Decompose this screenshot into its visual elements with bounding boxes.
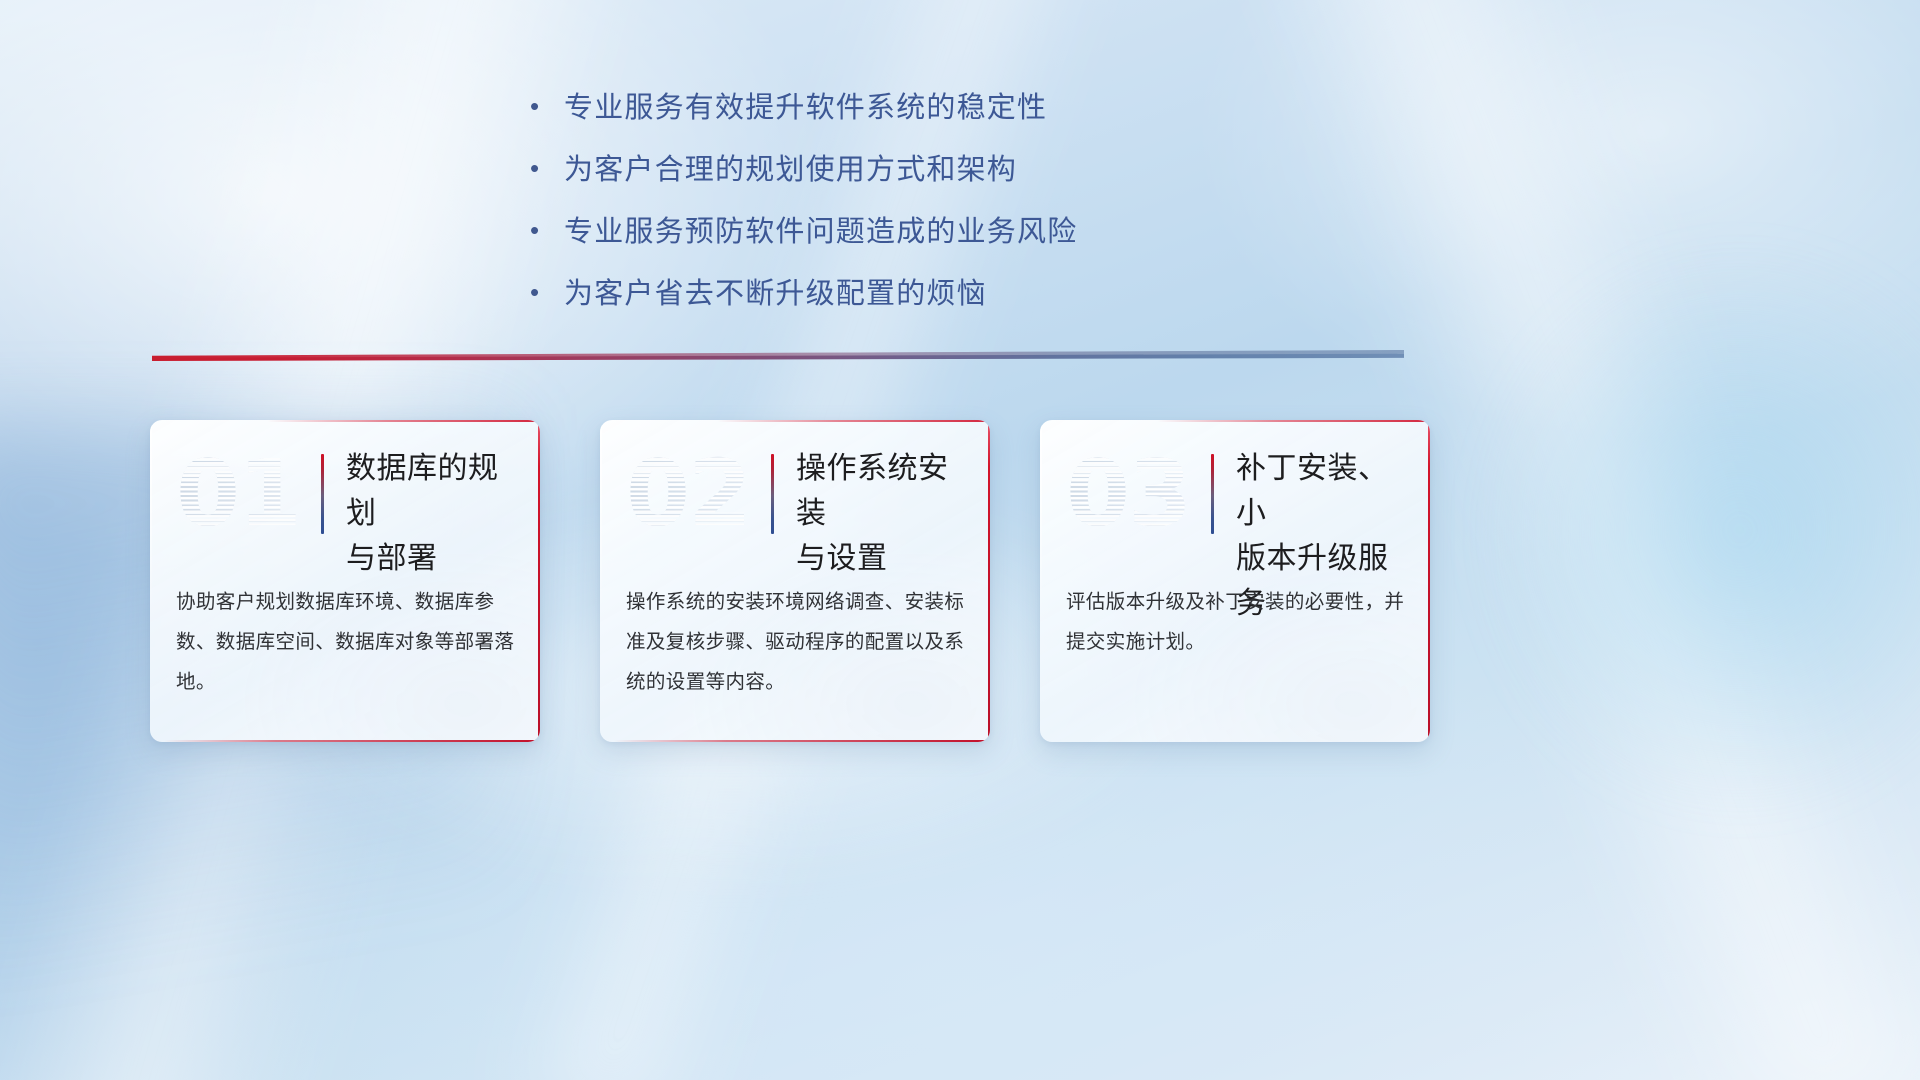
card-body-text: 操作系统的安装环境网络调查、安装标准及复核步骤、驱动程序的配置以及系统的设置等内… [626,582,966,702]
card-bottom-accent [614,740,988,742]
list-item: • 为客户省去不断升级配置的烦恼 [530,274,1390,314]
service-card-row: 01 01 数据库的规划 与部署 协助客户规划数据库环境、数据库参数、数据库空间… [150,420,1450,742]
bullet-text: 为客户合理的规划使用方式和架构 [564,150,1017,190]
card-title-line2: 与部署 [346,542,438,575]
card-bottom-accent [164,740,538,742]
card-body-text: 评估版本升级及补丁安装的必要性，并提交实施计划。 [1066,582,1406,662]
bullet-text: 专业服务预防软件问题造成的业务风险 [564,212,1077,252]
bullet-text: 专业服务有效提升软件系统的稳定性 [564,88,1047,128]
card-title-line1: 数据库的规划 [346,452,499,530]
list-item: • 为客户合理的规划使用方式和架构 [530,150,1390,190]
benefits-bullet-list: • 专业服务有效提升软件系统的稳定性 • 为客户合理的规划使用方式和架构 • 专… [530,88,1390,336]
bullet-dot-icon: • [530,210,564,250]
card-number-watermark: 03 [1058,442,1198,546]
bullet-text: 为客户省去不断升级配置的烦恼 [564,274,987,314]
card-title-line2: 与设置 [796,542,888,575]
service-card-03[interactable]: 03 03 补丁安装、小 版本升级服务 评估版本升级及补丁安装的必要性，并提交实… [1040,420,1430,742]
service-card-01[interactable]: 01 01 数据库的规划 与部署 协助客户规划数据库环境、数据库参数、数据库空间… [150,420,540,742]
card-title-divider-bar [321,454,324,534]
card-header: 02 02 操作系统安装 与设置 [600,420,990,565]
card-title: 操作系统安装 与设置 [796,446,976,581]
card-number-watermark: 02 [618,442,758,546]
list-item: • 专业服务有效提升软件系统的稳定性 [530,88,1390,128]
card-title-divider-bar [771,454,774,534]
card-title-line1: 操作系统安装 [796,452,949,530]
list-item: • 专业服务预防软件问题造成的业务风险 [530,212,1390,252]
gradient-divider [152,350,1404,361]
bullet-dot-icon: • [530,86,564,126]
card-title-divider-bar [1211,454,1214,534]
card-body-text: 协助客户规划数据库环境、数据库参数、数据库空间、数据库对象等部署落地。 [176,582,516,702]
bullet-dot-icon: • [530,148,564,188]
card-number-watermark: 01 [168,442,308,546]
light-streak-decoration [1480,250,1920,810]
card-title: 数据库的规划 与部署 [346,446,526,581]
card-header: 01 01 数据库的规划 与部署 [150,420,540,565]
service-card-02[interactable]: 02 02 操作系统安装 与设置 操作系统的安装环境网络调查、安装标准及复核步骤… [600,420,990,742]
slide-canvas: • 专业服务有效提升软件系统的稳定性 • 为客户合理的规划使用方式和架构 • 专… [0,0,1920,1080]
card-header: 03 03 补丁安装、小 版本升级服务 [1040,420,1430,565]
bullet-dot-icon: • [530,272,564,312]
card-title-line1: 补丁安装、小 [1236,452,1389,530]
